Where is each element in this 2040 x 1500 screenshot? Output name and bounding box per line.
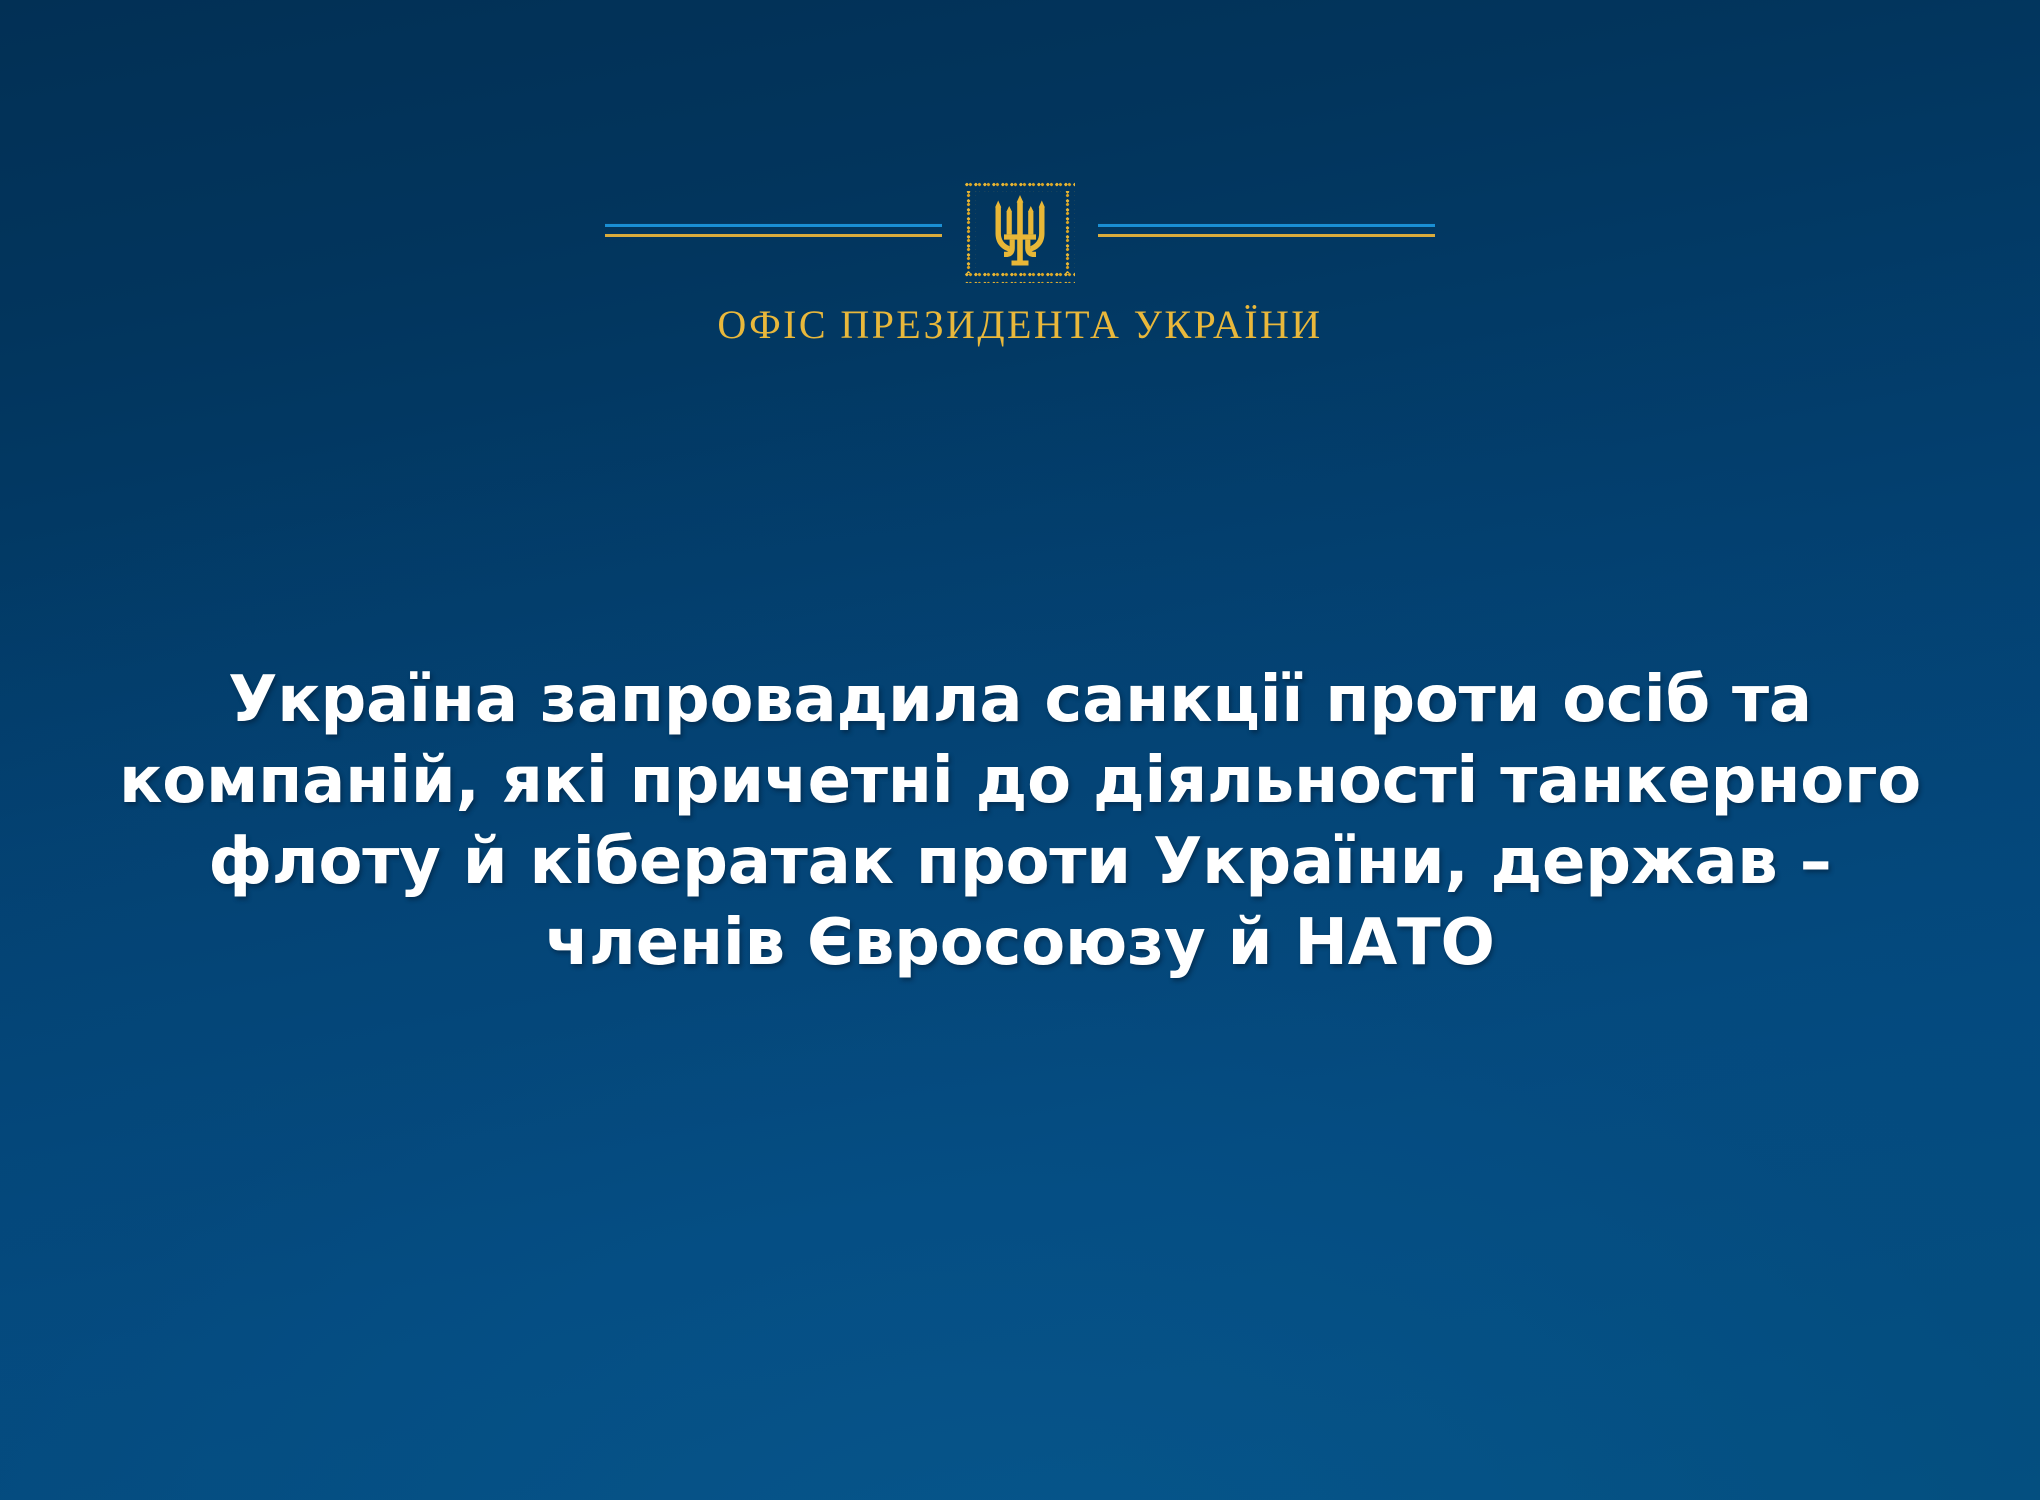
- organization-title: ОФІС ПРЕЗИДЕНТА УКРАЇНИ: [717, 304, 1322, 346]
- headline-line-1: Україна запровадила санкції проти осіб т…: [80, 660, 1960, 741]
- headline-line-2: компаній, які причетні до діяльності тан…: [80, 741, 1960, 822]
- rule-line-gold: [605, 234, 942, 237]
- headline-line-3: флоту й кібератак проти України, держав …: [80, 822, 1960, 903]
- header-lockup: ОФІС ПРЕЗИДЕНТА УКРАЇНИ: [0, 180, 2040, 346]
- ukraine-trident-emblem-icon: [964, 180, 1076, 284]
- rule-line-blue: [1098, 224, 1435, 227]
- horizontal-double-rule-right-icon: [1098, 224, 1435, 240]
- page-title: Україна запровадила санкції проти осіб т…: [80, 660, 1960, 984]
- headline-block: Україна запровадила санкції проти осіб т…: [80, 660, 1960, 984]
- emblem-row: [0, 180, 2040, 284]
- rule-line-blue: [605, 224, 942, 227]
- headline-line-4: членів Євросоюзу й НАТО: [80, 903, 1960, 984]
- horizontal-double-rule-left-icon: [605, 224, 942, 240]
- presentation-slide: ОФІС ПРЕЗИДЕНТА УКРАЇНИ Україна запровад…: [0, 0, 2040, 1500]
- rule-line-gold: [1098, 234, 1435, 237]
